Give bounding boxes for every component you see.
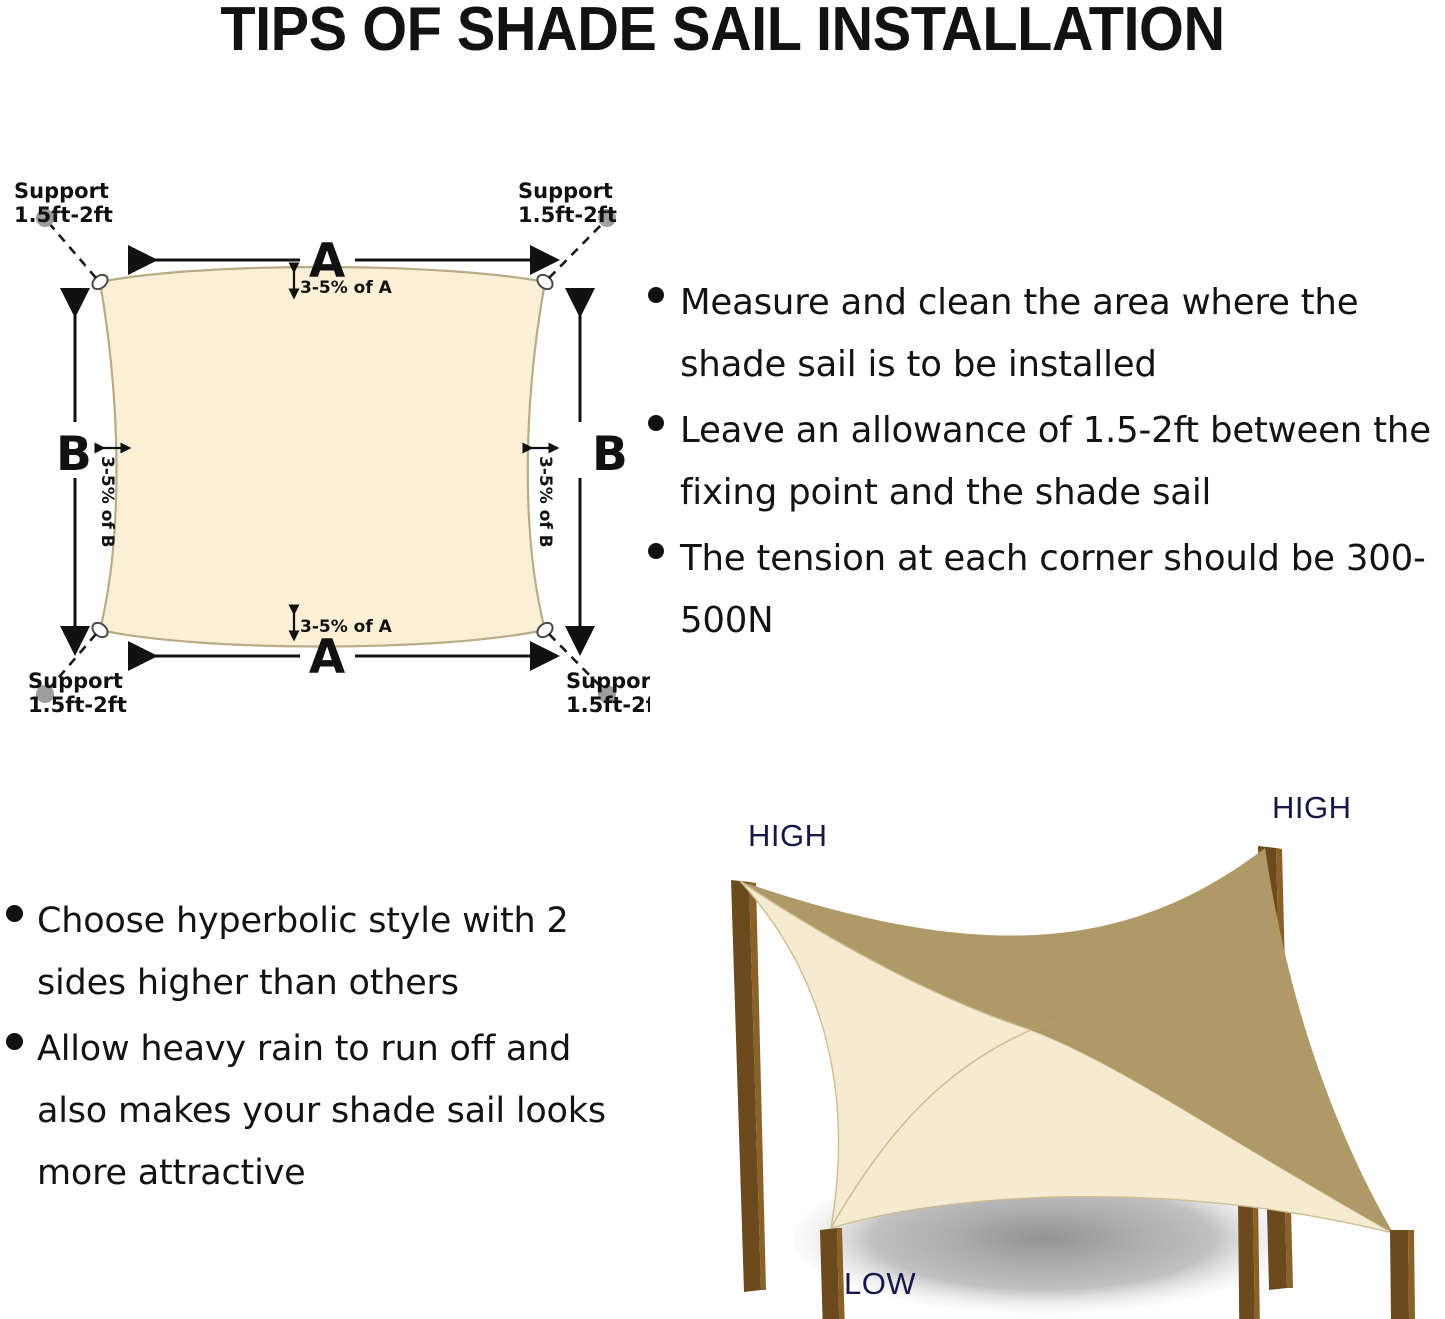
support-label-line2: 1.5ft-2ft xyxy=(28,693,127,717)
list-item: Leave an allowance of 1.5-2ft between th… xyxy=(648,400,1445,524)
support-label-line2: 1.5ft-2ft xyxy=(518,203,617,227)
curvature-label-top: 3-5% of A xyxy=(300,278,393,298)
label-high-left: HIGH xyxy=(748,818,828,853)
support-label-line2: 1.5ft-2ft xyxy=(566,693,650,717)
list-item-text: Allow heavy rain to run off and also mak… xyxy=(37,1018,616,1204)
curvature-label-bottom: 3-5% of A xyxy=(300,617,393,637)
sail-shape xyxy=(100,267,545,647)
list-item: Measure and clean the area where the sha… xyxy=(648,272,1445,396)
post-low-center-right xyxy=(1238,1198,1261,1319)
infographic-page: TIPS OF SHADE SAIL INSTALLATION xyxy=(0,0,1445,1319)
bullet-dot-icon xyxy=(6,905,23,922)
list-item: The tension at each corner should be 300… xyxy=(648,528,1445,652)
support-label-bottom-right: Support 1.5ft-2ft xyxy=(566,669,650,717)
support-label-top-right: Support 1.5ft-2ft xyxy=(518,179,617,227)
support-label-line1: Support xyxy=(14,179,109,203)
list-item-text: Choose hyperbolic style with 2 sides hig… xyxy=(37,890,616,1014)
post-low-right xyxy=(1390,1230,1416,1319)
post-high-left xyxy=(731,880,766,1292)
list-item: Allow heavy rain to run off and also mak… xyxy=(6,1018,616,1204)
support-label-line2: 1.5ft-2ft xyxy=(14,203,113,227)
installation-tips-list: Measure and clean the area where the sha… xyxy=(648,272,1445,656)
support-label-line1: Support xyxy=(28,669,123,693)
page-title: TIPS OF SHADE SAIL INSTALLATION xyxy=(51,0,1395,65)
list-item-text: Measure and clean the area where the sha… xyxy=(680,272,1445,396)
bullet-dot-icon xyxy=(648,287,664,303)
hyperbolic-style-tips-list: Choose hyperbolic style with 2 sides hig… xyxy=(6,890,616,1208)
support-label-top-left: Support 1.5ft-2ft xyxy=(14,179,113,227)
support-label-line1: Support xyxy=(566,669,650,693)
list-item-text: Leave an allowance of 1.5-2ft between th… xyxy=(680,400,1445,524)
list-item: Choose hyperbolic style with 2 sides hig… xyxy=(6,890,616,1014)
label-low-left: LOW xyxy=(844,1266,916,1301)
bullet-dot-icon xyxy=(648,415,664,431)
bullet-dot-icon xyxy=(648,543,664,559)
hyperbolic-sail-scene: HIGH HIGH LOW LOW xyxy=(648,778,1445,1319)
rectangle-sail-diagram: Support 1.5ft-2ft Support 1.5ft-2ft Supp… xyxy=(0,160,650,730)
label-high-right: HIGH xyxy=(1272,790,1352,825)
list-item-text: The tension at each corner should be 300… xyxy=(680,528,1445,652)
curvature-label-left: 3-5% of B xyxy=(97,456,117,548)
dimension-label-left-b: B xyxy=(56,427,92,482)
curvature-label-right: 3-5% of B xyxy=(535,456,555,548)
dimension-label-right-b: B xyxy=(592,427,628,482)
support-label-line1: Support xyxy=(518,179,613,203)
bullet-dot-icon xyxy=(6,1033,23,1050)
dimension-label-bottom-a: A xyxy=(309,630,346,685)
support-label-bottom-left: Support 1.5ft-2ft xyxy=(28,669,127,717)
